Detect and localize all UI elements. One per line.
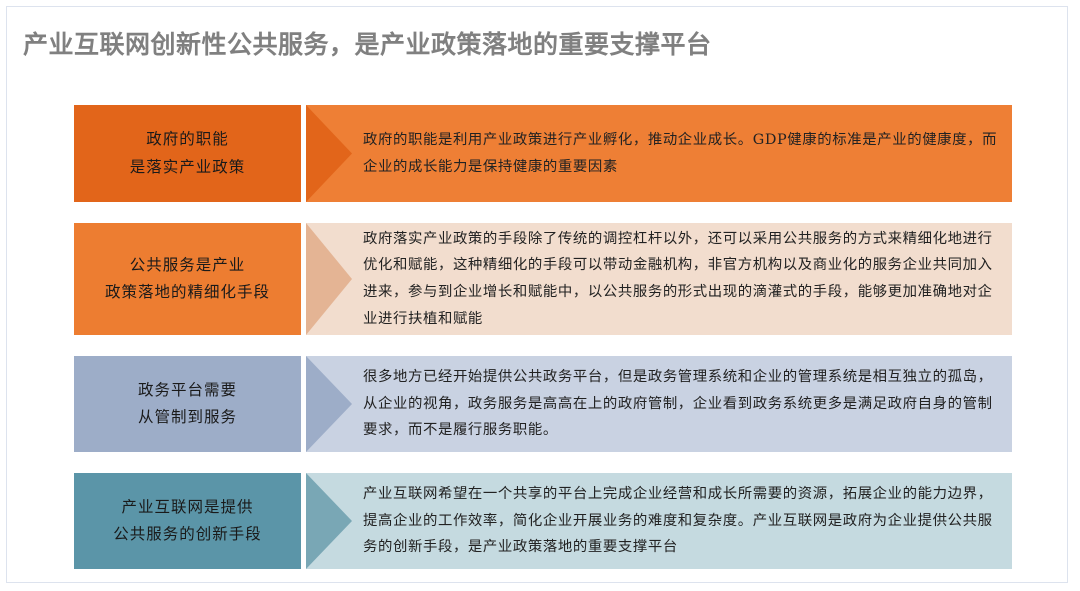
arrow-right-icon — [306, 356, 352, 452]
slide-canvas: 产业互联网创新性公共服务，是产业政策落地的重要支撑平台 政府的职能 是落实产业政… — [6, 6, 1068, 583]
row-content-box-3: 很多地方已经开始提供公共政务平台，但是政务管理系统和企业的管理系统是相互独立的孤… — [306, 356, 1012, 452]
row-label-box-1: 政府的职能 是落实产业政策 — [74, 105, 301, 202]
row-content-text-2: 政府落实产业政策的手段除了传统的调控杠杆以外，还可以采用公共服务的方式来精细化地… — [363, 226, 998, 333]
content-rows-list: 政府的职能 是落实产业政策 政府的职能是利用产业政策进行产业孵化，推动企业成长。… — [74, 105, 1012, 590]
list-item: 公共服务是产业 政策落地的精细化手段 政府落实产业政策的手段除了传统的调控杠杆以… — [74, 223, 1012, 335]
list-item: 政务平台需要 从管制到服务 很多地方已经开始提供公共政务平台，但是政务管理系统和… — [74, 356, 1012, 452]
row-content-text-3: 很多地方已经开始提供公共政务平台，但是政务管理系统和企业的管理系统是相互独立的孤… — [363, 364, 998, 444]
list-item: 产业互联网是提供 公共服务的创新手段 产业互联网希望在一个共享的平台上完成企业经… — [74, 473, 1012, 569]
row-content-box-1: 政府的职能是利用产业政策进行产业孵化，推动企业成长。GDP健康的标准是产业的健康… — [306, 105, 1012, 202]
arrow-right-icon — [306, 473, 352, 569]
arrow-right-icon — [306, 223, 352, 335]
row-label-box-2: 公共服务是产业 政策落地的精细化手段 — [74, 223, 301, 335]
row-label-box-4: 产业互联网是提供 公共服务的创新手段 — [74, 473, 301, 569]
page-title: 产业互联网创新性公共服务，是产业政策落地的重要支撑平台 — [23, 25, 712, 61]
row-label-text-2: 公共服务是产业 政策落地的精细化手段 — [105, 252, 270, 306]
row-content-text-4: 产业互联网希望在一个共享的平台上完成企业经营和成长所需要的资源，拓展企业的能力边… — [363, 481, 998, 561]
arrow-right-icon — [306, 105, 352, 202]
row-label-box-3: 政务平台需要 从管制到服务 — [74, 356, 301, 452]
row-label-text-3: 政务平台需要 从管制到服务 — [138, 377, 237, 431]
list-item: 政府的职能 是落实产业政策 政府的职能是利用产业政策进行产业孵化，推动企业成长。… — [74, 105, 1012, 202]
row-content-box-2: 政府落实产业政策的手段除了传统的调控杠杆以外，还可以采用公共服务的方式来精细化地… — [306, 223, 1012, 335]
row-content-box-4: 产业互联网希望在一个共享的平台上完成企业经营和成长所需要的资源，拓展企业的能力边… — [306, 473, 1012, 569]
row-content-text-1: 政府的职能是利用产业政策进行产业孵化，推动企业成长。GDP健康的标准是产业的健康… — [363, 127, 998, 180]
row-label-text-1: 政府的职能 是落实产业政策 — [130, 126, 246, 180]
row-label-text-4: 产业互联网是提供 公共服务的创新手段 — [113, 494, 262, 548]
